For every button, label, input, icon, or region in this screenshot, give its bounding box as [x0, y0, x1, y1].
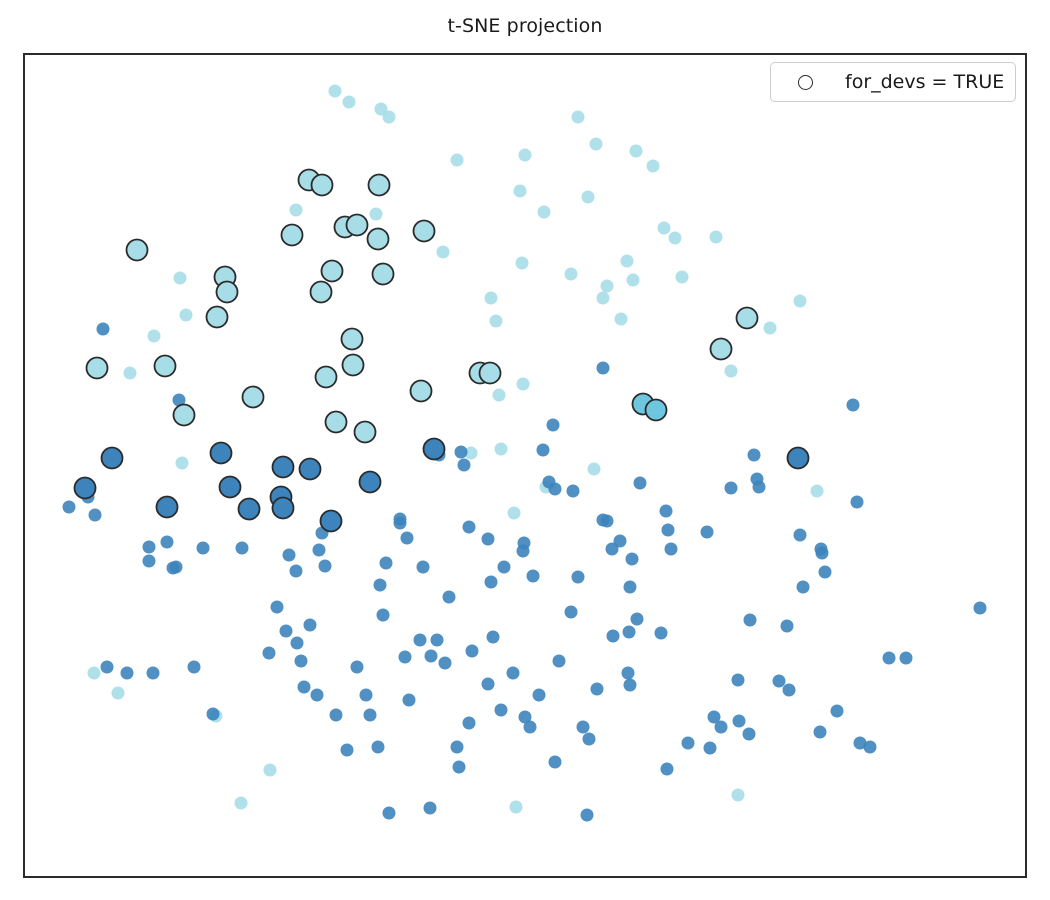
- scatter-point: [606, 543, 619, 556]
- scatter-point: [601, 280, 614, 293]
- scatter-point: [794, 529, 807, 542]
- scatter-point: [815, 543, 828, 556]
- scatter-point: [437, 246, 450, 259]
- scatter-point: [451, 154, 464, 167]
- scatter-point: [508, 507, 521, 520]
- scatter-point: [87, 358, 108, 379]
- scatter-point: [368, 229, 389, 250]
- scatter-point: [794, 295, 807, 308]
- scatter-point: [533, 689, 546, 702]
- scatter-point: [377, 609, 390, 622]
- scatter-point: [516, 257, 529, 270]
- scatter-point: [623, 626, 636, 639]
- scatter-point: [485, 292, 498, 305]
- scatter-point: [451, 741, 464, 754]
- scatter-point: [591, 683, 604, 696]
- scatter-point: [597, 362, 610, 375]
- scatter-points-layer: [25, 55, 1025, 876]
- scatter-point: [383, 807, 396, 820]
- scatter-point: [482, 678, 495, 691]
- scatter-point: [355, 422, 376, 443]
- scatter-point: [527, 570, 540, 583]
- scatter-point: [597, 514, 610, 527]
- scatter-point: [319, 560, 332, 573]
- scatter-point: [480, 363, 501, 384]
- legend[interactable]: for_devs = TRUE: [770, 62, 1016, 102]
- scatter-point: [374, 579, 387, 592]
- scatter-point: [273, 457, 294, 478]
- scatter-point: [243, 387, 264, 408]
- scatter-point: [351, 661, 364, 674]
- scatter-point: [883, 652, 896, 665]
- scatter-point: [783, 684, 796, 697]
- scatter-point: [424, 802, 437, 815]
- scatter-point: [235, 797, 248, 810]
- scatter-point: [148, 330, 161, 343]
- scatter-point: [211, 443, 232, 464]
- scatter-point: [661, 763, 674, 776]
- scatter-point: [463, 717, 476, 730]
- scatter-point: [295, 655, 308, 668]
- scatter-point: [732, 674, 745, 687]
- scatter-point: [590, 138, 603, 151]
- scatter-point: [514, 185, 527, 198]
- scatter-point: [565, 606, 578, 619]
- scatter-point: [217, 282, 238, 303]
- scatter-point: [811, 485, 824, 498]
- figure-canvas: t-SNE projection for_devs = TRUE: [0, 0, 1050, 900]
- scatter-point: [974, 602, 987, 615]
- scatter-point: [581, 809, 594, 822]
- scatter-point: [517, 545, 530, 558]
- scatter-point: [622, 667, 635, 680]
- scatter-point: [271, 601, 284, 614]
- scatter-point: [626, 553, 639, 566]
- scatter-point: [627, 274, 640, 287]
- scatter-point: [669, 232, 682, 245]
- scatter-point: [660, 505, 673, 518]
- scatter-point: [733, 715, 746, 728]
- scatter-point: [851, 496, 864, 509]
- scatter-point: [487, 631, 500, 644]
- scatter-point: [753, 481, 766, 494]
- scatter-point: [517, 378, 530, 391]
- legend-label: for_devs = TRUE: [845, 71, 1004, 93]
- scatter-point: [370, 208, 383, 221]
- scatter-point: [549, 483, 562, 496]
- scatter-point: [710, 231, 723, 244]
- scatter-point: [507, 667, 520, 680]
- scatter-point: [298, 681, 311, 694]
- scatter-point: [101, 661, 114, 674]
- scatter-point: [399, 651, 412, 664]
- scatter-point: [490, 315, 503, 328]
- scatter-point: [732, 789, 745, 802]
- scatter-point: [311, 689, 324, 702]
- scatter-point: [102, 448, 123, 469]
- scatter-point: [273, 498, 294, 519]
- scatter-point: [682, 737, 695, 750]
- scatter-point: [174, 405, 195, 426]
- page-title: t-SNE projection: [0, 14, 1050, 38]
- scatter-point: [647, 160, 660, 173]
- scatter-point: [341, 744, 354, 757]
- scatter-point: [439, 657, 452, 670]
- scatter-point: [538, 206, 551, 219]
- scatter-point: [443, 591, 456, 604]
- scatter-point: [264, 764, 277, 777]
- scatter-point: [847, 399, 860, 412]
- scatter-point: [280, 625, 293, 638]
- scatter-point: [788, 448, 809, 469]
- scatter-point: [495, 704, 508, 717]
- scatter-point: [239, 499, 260, 520]
- scatter-point: [127, 240, 148, 261]
- scatter-point: [290, 565, 303, 578]
- scatter-point: [577, 721, 590, 734]
- scatter-point: [75, 478, 96, 499]
- scatter-point: [63, 501, 76, 514]
- scatter-point: [174, 272, 187, 285]
- scatter-point: [624, 679, 637, 692]
- scatter-point: [329, 85, 342, 98]
- scatter-point: [364, 709, 377, 722]
- scatter-point: [485, 576, 498, 589]
- scatter-point: [864, 741, 877, 754]
- scatter-point: [180, 309, 193, 322]
- scatter-point: [311, 282, 332, 303]
- scatter-point: [380, 557, 393, 570]
- scatter-point: [455, 446, 468, 459]
- scatter-point: [291, 637, 304, 650]
- scatter-point: [97, 323, 110, 336]
- scatter-point: [547, 419, 560, 432]
- scatter-point: [495, 443, 508, 456]
- scatter-point: [147, 667, 160, 680]
- scatter-point: [322, 261, 343, 282]
- scatter-point: [263, 647, 276, 660]
- scatter-point: [290, 204, 303, 217]
- series-for-devs-true: [75, 170, 809, 532]
- scatter-point: [170, 561, 183, 574]
- scatter-point: [781, 620, 794, 633]
- scatter-point: [744, 614, 757, 627]
- scatter-point: [676, 271, 689, 284]
- scatter-point: [304, 619, 317, 632]
- scatter-point: [283, 549, 296, 562]
- scatter-point: [631, 613, 644, 626]
- scatter-point: [197, 542, 210, 555]
- scatter-point: [819, 566, 832, 579]
- scatter-point: [220, 477, 241, 498]
- scatter-point: [401, 532, 414, 545]
- scatter-point: [797, 581, 810, 594]
- scatter-point: [394, 517, 407, 530]
- scatter-point: [743, 728, 756, 741]
- scatter-point: [646, 400, 667, 421]
- scatter-point: [342, 329, 363, 350]
- scatter-point: [316, 367, 337, 388]
- scatter-point: [458, 459, 471, 472]
- scatter-point: [463, 521, 476, 534]
- scatter-point: [519, 149, 532, 162]
- scatter-point: [360, 472, 381, 493]
- scatter-point: [498, 561, 511, 574]
- scatter-point: [321, 511, 342, 532]
- scatter-point: [634, 477, 647, 490]
- scatter-point: [414, 221, 435, 242]
- scatter-svg: [25, 55, 1025, 876]
- scatter-point: [207, 307, 228, 328]
- scatter-point: [403, 694, 416, 707]
- scatter-point: [176, 457, 189, 470]
- scatter-point: [621, 255, 634, 268]
- scatter-point: [773, 675, 786, 688]
- legend-marker-circle-icon: [798, 75, 813, 90]
- scatter-point: [510, 801, 523, 814]
- scatter-point: [88, 667, 101, 680]
- scatter-point: [814, 726, 827, 739]
- scatter-point: [665, 543, 678, 556]
- scatter-point: [121, 667, 134, 680]
- scatter-point: [764, 322, 777, 335]
- scatter-point: [737, 308, 758, 329]
- scatter-point: [831, 705, 844, 718]
- scatter-point: [343, 355, 364, 376]
- scatter-point: [615, 313, 628, 326]
- scatter-point: [725, 482, 738, 495]
- scatter-point: [658, 222, 671, 235]
- scatter-point: [453, 761, 466, 774]
- scatter-point: [582, 191, 595, 204]
- scatter-point: [588, 463, 601, 476]
- scatter-point: [312, 175, 333, 196]
- scatter-point: [493, 389, 506, 402]
- scatter-point: [188, 661, 201, 674]
- scatter-point: [524, 721, 537, 734]
- scatter-point: [155, 356, 176, 377]
- scatter-point: [112, 687, 125, 700]
- scatter-point: [207, 708, 220, 721]
- scatter-point: [372, 741, 385, 754]
- scatter-point: [655, 627, 668, 640]
- scatter-point: [282, 225, 303, 246]
- scatter-point: [701, 526, 714, 539]
- scatter-point: [549, 756, 562, 769]
- scatter-point: [417, 561, 430, 574]
- scatter-point: [360, 689, 373, 702]
- series-for-devs-false: [63, 85, 987, 822]
- scatter-point: [124, 367, 137, 380]
- scatter-point: [369, 175, 390, 196]
- scatter-point: [411, 381, 432, 402]
- scatter-point: [157, 497, 178, 518]
- scatter-point: [143, 555, 156, 568]
- scatter-point: [537, 444, 550, 457]
- scatter-point: [424, 439, 445, 460]
- scatter-point: [330, 709, 343, 722]
- scatter-point: [373, 264, 394, 285]
- scatter-point: [572, 571, 585, 584]
- scatter-point: [89, 509, 102, 522]
- scatter-point: [313, 544, 326, 557]
- scatter-point: [143, 541, 156, 554]
- scatter-point: [383, 111, 396, 124]
- scatter-point: [597, 292, 610, 305]
- scatter-point: [466, 645, 479, 658]
- scatter-point: [347, 215, 368, 236]
- scatter-point: [624, 581, 637, 594]
- plot-area: [23, 53, 1027, 878]
- scatter-point: [662, 524, 675, 537]
- scatter-point: [583, 733, 596, 746]
- scatter-point: [725, 365, 738, 378]
- scatter-point: [711, 339, 732, 360]
- scatter-point: [414, 634, 427, 647]
- scatter-point: [553, 655, 566, 668]
- scatter-point: [431, 634, 444, 647]
- scatter-point: [748, 449, 761, 462]
- scatter-point: [565, 268, 578, 281]
- scatter-point: [161, 536, 174, 549]
- scatter-point: [236, 542, 249, 555]
- scatter-point: [715, 721, 728, 734]
- scatter-point: [704, 742, 717, 755]
- scatter-point: [607, 630, 620, 643]
- scatter-point: [326, 412, 347, 433]
- scatter-point: [300, 459, 321, 480]
- scatter-point: [572, 111, 585, 124]
- scatter-point: [630, 145, 643, 158]
- scatter-point: [343, 96, 356, 109]
- scatter-point: [482, 533, 495, 546]
- scatter-point: [900, 652, 913, 665]
- scatter-point: [567, 485, 580, 498]
- scatter-point: [425, 650, 438, 663]
